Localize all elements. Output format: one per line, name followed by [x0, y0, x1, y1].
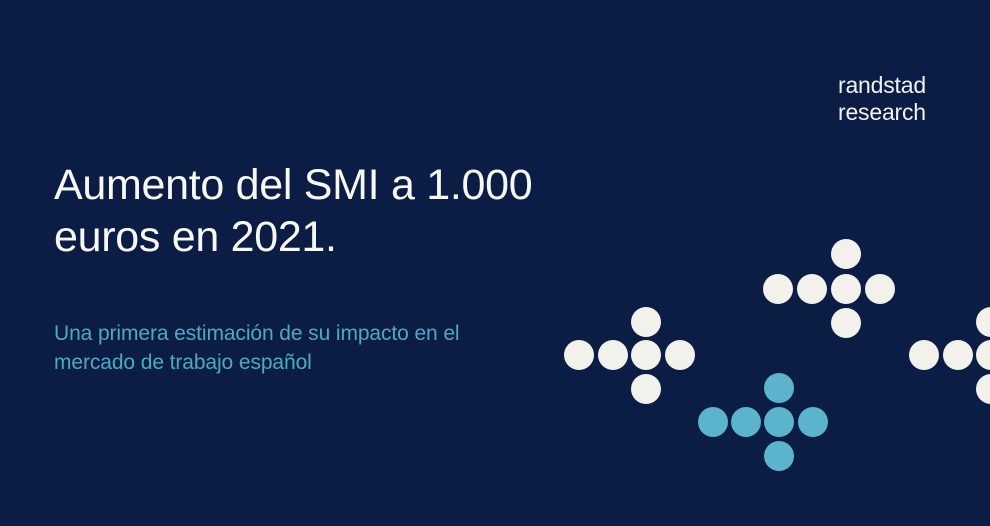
decoration-dot [976, 374, 990, 404]
decoration-dot [976, 340, 990, 370]
decoration-dot [797, 274, 827, 304]
decoration-dot [764, 407, 794, 437]
decoration-dot [665, 340, 695, 370]
decoration-dot [943, 340, 973, 370]
decoration-dot [798, 407, 828, 437]
decoration-dot [564, 340, 594, 370]
logo-line-randstad: randstad [838, 72, 926, 99]
randstad-research-logo: randstad research [838, 72, 926, 126]
decoration-dot [631, 340, 661, 370]
page-title-line-2: euros en 2021. [54, 213, 337, 261]
decoration-dot [865, 274, 895, 304]
decoration-dot [764, 441, 794, 471]
page-subtitle-line-1: Una primera estimación de su impacto en … [54, 322, 460, 345]
cover-slide: randstad research Aumento del SMI a 1.00… [0, 0, 990, 526]
decoration-dot [631, 307, 661, 337]
decoration-dot [763, 274, 793, 304]
decoration-dot [698, 407, 728, 437]
decoration-dot [976, 307, 990, 337]
decoration-dot [631, 374, 661, 404]
page-subtitle: Una primera estimación de su impacto en … [54, 320, 564, 378]
decoration-dot [831, 308, 861, 338]
decoration-dot [598, 340, 628, 370]
decoration-dot [764, 373, 794, 403]
headline-block: Aumento del SMI a 1.000 euros en 2021. [54, 160, 574, 263]
page-subtitle-line-2: mercado de trabajo español [54, 351, 312, 374]
decoration-dot [731, 407, 761, 437]
page-title: Aumento del SMI a 1.000 euros en 2021. [54, 160, 574, 263]
page-title-line-1: Aumento del SMI a 1.000 [54, 161, 532, 209]
logo-line-research: research [838, 99, 926, 126]
decoration-dot [831, 239, 861, 269]
decoration-dot [909, 340, 939, 370]
decoration-dot [831, 274, 861, 304]
